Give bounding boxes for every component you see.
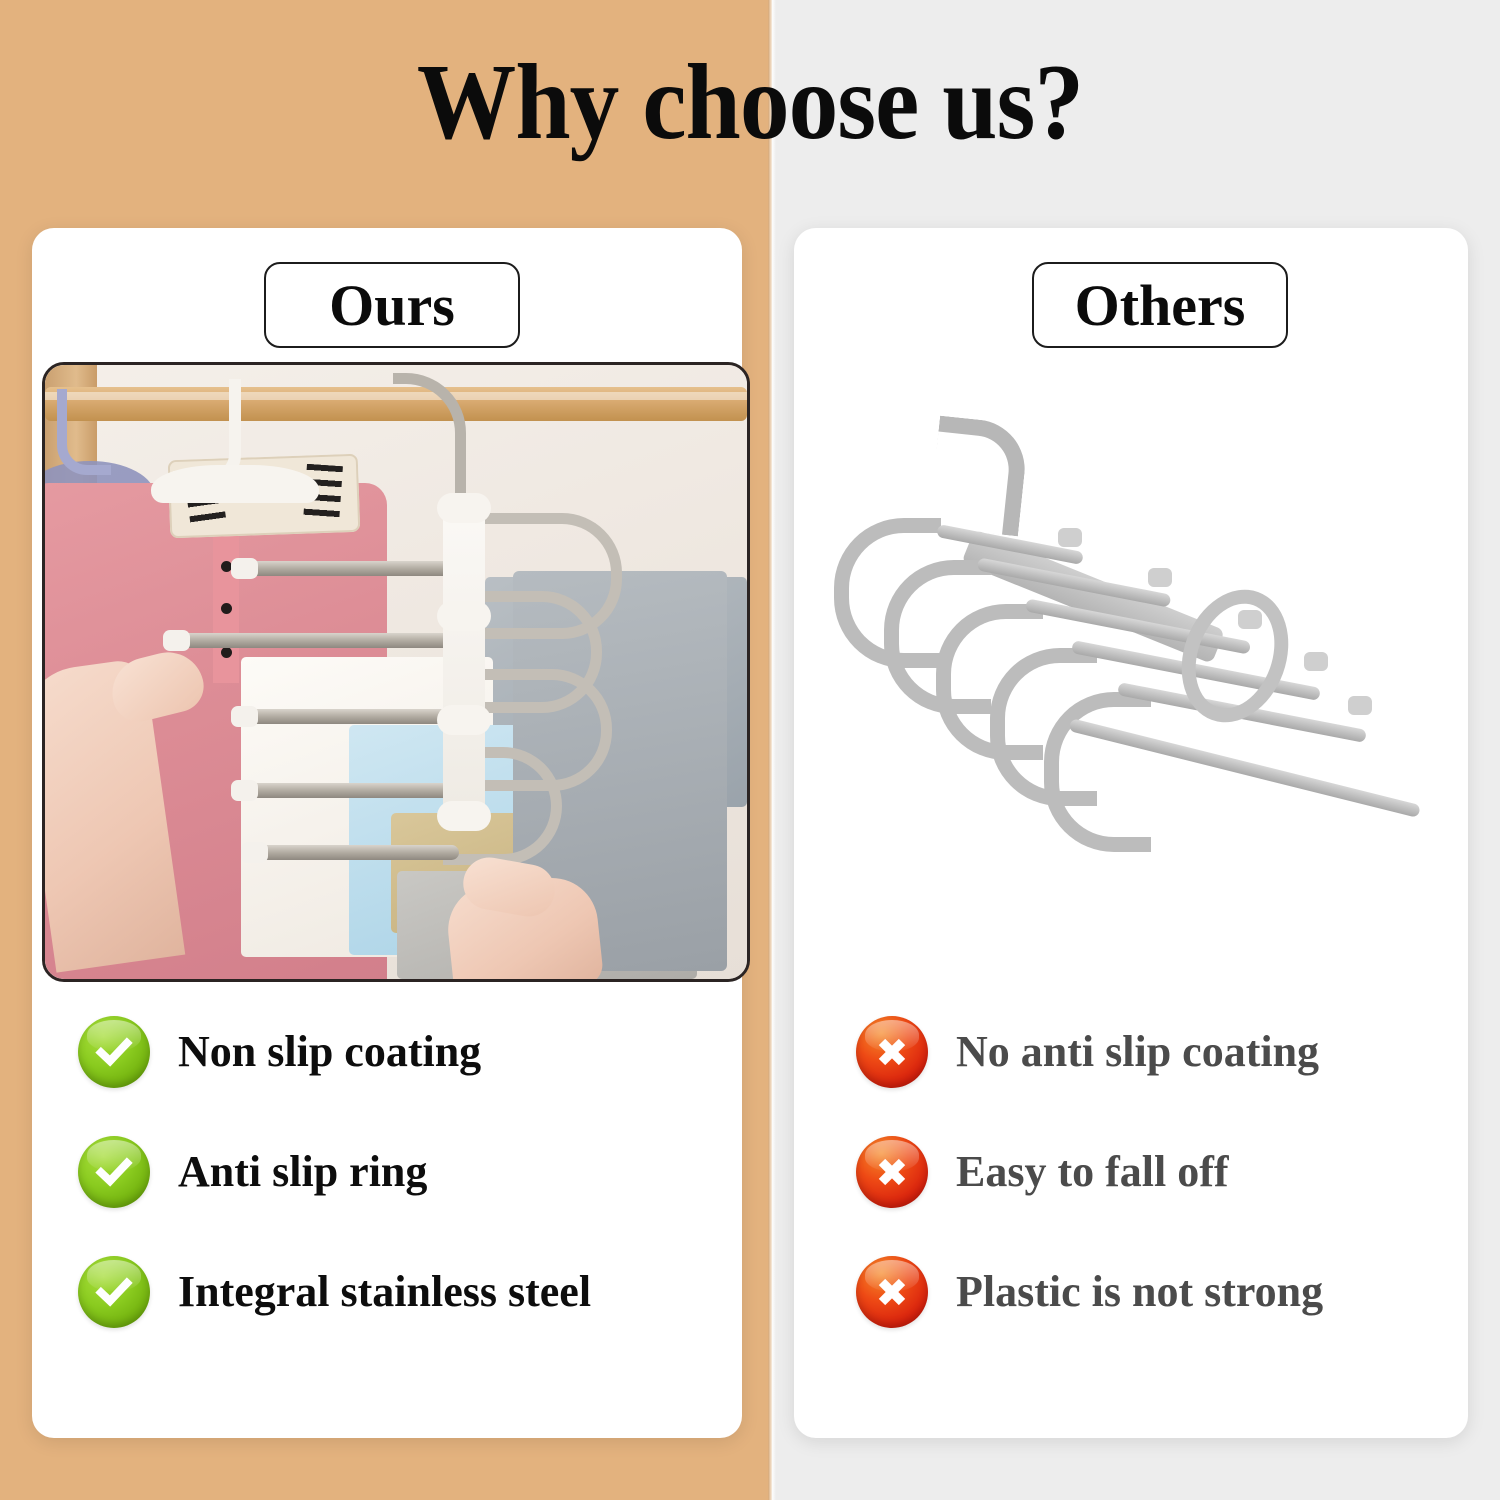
cross-icon bbox=[856, 1256, 928, 1328]
ours-product-photo bbox=[42, 362, 750, 982]
ours-label-text: Ours bbox=[329, 272, 455, 339]
ours-feature-list: Non slip coating Anti slip ring Integral… bbox=[78, 1012, 718, 1332]
list-item: Non slip coating bbox=[78, 1012, 718, 1092]
others-label-text: Others bbox=[1075, 272, 1246, 339]
feature-label: Plastic is not strong bbox=[956, 1269, 1323, 1315]
others-feature-list: No anti slip coating Easy to fall off Pl… bbox=[856, 1012, 1456, 1332]
photo-shirt-button bbox=[221, 647, 232, 658]
others-product-photo bbox=[818, 400, 1448, 900]
photo-bar-3 bbox=[241, 709, 459, 724]
photo-spine-knob-3 bbox=[437, 705, 491, 735]
others-bar-tip-1 bbox=[1058, 528, 1082, 547]
photo-bar-5 bbox=[251, 845, 459, 860]
cross-icon bbox=[856, 1016, 928, 1088]
others-bar-tip-2 bbox=[1148, 568, 1172, 587]
feature-label: Anti slip ring bbox=[178, 1149, 427, 1195]
list-item: Easy to fall off bbox=[856, 1132, 1456, 1212]
page-title: Why choose us? bbox=[60, 46, 1440, 159]
photo-bar-cap-5 bbox=[241, 842, 268, 863]
background-seam-divider bbox=[768, 0, 776, 1500]
feature-label: Integral stainless steel bbox=[178, 1269, 591, 1315]
photo-white-hanger-body bbox=[151, 465, 319, 503]
photo-bar-cap-2 bbox=[163, 630, 190, 651]
list-item: No anti slip coating bbox=[856, 1012, 1456, 1092]
ours-label-pill: Ours bbox=[264, 262, 520, 348]
list-item: Integral stainless steel bbox=[78, 1252, 718, 1332]
feature-label: No anti slip coating bbox=[956, 1029, 1319, 1075]
cross-icon bbox=[856, 1136, 928, 1208]
photo-bar-1 bbox=[241, 561, 459, 576]
check-icon bbox=[78, 1256, 150, 1328]
photo-spine-knob-4 bbox=[437, 801, 491, 831]
photo-spine-knob-1 bbox=[437, 493, 491, 523]
feature-label: Easy to fall off bbox=[956, 1149, 1229, 1195]
photo-bar-cap-4 bbox=[231, 780, 258, 801]
others-bar-tip-5 bbox=[1348, 696, 1372, 715]
others-anti-slip-ring bbox=[1164, 575, 1306, 738]
photo-bar-2 bbox=[173, 633, 459, 648]
photo-blue-hanger-hook bbox=[57, 389, 111, 475]
photo-spine-knob-2 bbox=[437, 601, 491, 631]
check-icon bbox=[78, 1016, 150, 1088]
photo-shirt-button bbox=[221, 603, 232, 614]
photo-bar-cap-3 bbox=[231, 706, 258, 727]
others-bar-tip-4 bbox=[1304, 652, 1328, 671]
others-s-curve-5 bbox=[1044, 692, 1151, 852]
photo-bar-4 bbox=[241, 783, 459, 798]
others-hanger-hook bbox=[928, 416, 1029, 537]
check-icon bbox=[78, 1136, 150, 1208]
photo-center-spine bbox=[443, 495, 485, 825]
list-item: Anti slip ring bbox=[78, 1132, 718, 1212]
others-label-pill: Others bbox=[1032, 262, 1288, 348]
photo-bar-cap-1 bbox=[231, 558, 258, 579]
list-item: Plastic is not strong bbox=[856, 1252, 1456, 1332]
feature-label: Non slip coating bbox=[178, 1029, 481, 1075]
